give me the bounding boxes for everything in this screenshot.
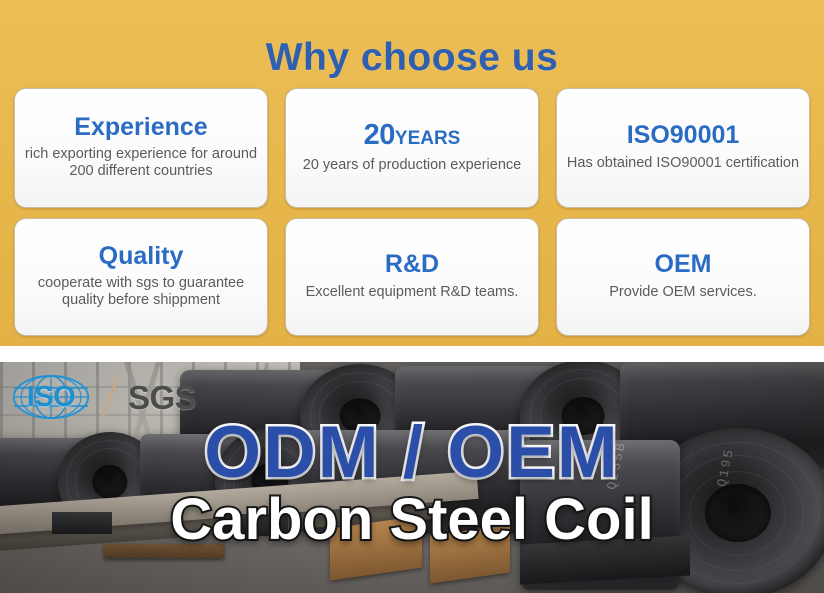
feature-card-quality[interactable]: Quality cooperate with sgs to guarantee … [14,218,268,336]
years-number: 20 [364,119,395,151]
wooden-pallet [104,544,224,558]
feature-card-grid: Experience rich exporting experience for… [14,88,810,336]
steel-support-plate [52,512,112,534]
feature-card-heading: Quality [99,243,184,271]
feature-card-iso[interactable]: ISO90001 Has obtained ISO90001 certifica… [556,88,810,208]
feature-card-description: rich exporting experience for around 200… [24,146,258,180]
feature-card-heading: 20YEARS [364,120,461,152]
product-photo-banner: Q235B Q195 [0,362,824,593]
years-unit: YEARS [395,128,460,149]
feature-card-heading: R&D [385,251,439,279]
certification-badge: ISO SGS [8,374,196,420]
feature-card-heading: OEM [655,251,712,279]
feature-card-heading: Experience [74,114,207,142]
iso-label: ISO [27,383,75,412]
feature-card-description: 20 years of production experience [303,157,521,174]
feature-card-description: Excellent equipment R&D teams. [306,284,519,301]
steel-support-plate [218,514,288,536]
why-choose-us-panel: Why choose us Experience rich exporting … [0,0,824,346]
feature-card-rnd[interactable]: R&D Excellent equipment R&D teams. [285,218,539,336]
feature-card-years[interactable]: 20YEARS 20 years of production experienc… [285,88,539,208]
feature-card-heading: ISO90001 [627,122,740,150]
iso-logo: ISO [8,374,94,420]
promo-banner-page: Why choose us Experience rich exporting … [0,0,824,593]
sgs-label: SGS [128,381,196,414]
page-title: Why choose us [0,26,824,77]
feature-card-description: cooperate with sgs to guarantee quality … [24,275,258,309]
feature-card-experience[interactable]: Experience rich exporting experience for… [14,88,268,208]
feature-card-description: Provide OEM services. [609,284,756,301]
feature-card-description: Has obtained ISO90001 certification [567,155,799,172]
badge-separator-icon [94,374,128,420]
feature-card-oem[interactable]: OEM Provide OEM services. [556,218,810,336]
